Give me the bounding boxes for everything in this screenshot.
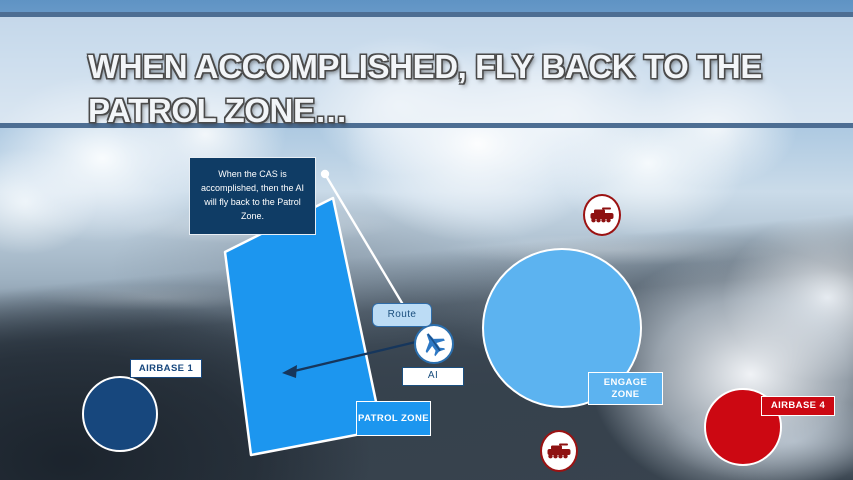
callout-box: When the CAS is accomplished, then the A… (189, 157, 316, 235)
patrol-zone-label[interactable]: PATROL ZONE (356, 401, 431, 436)
slide: WHEN ACCOMPLISHED, FLY BACK TO THE PATRO… (0, 0, 853, 480)
route-label[interactable]: Route (372, 303, 432, 327)
airbase-1-label[interactable]: AIRBASE 1 (130, 359, 202, 378)
armored-vehicle-icon (546, 443, 572, 459)
airbase-1-marker[interactable] (82, 376, 158, 452)
armored-vehicle-icon (589, 207, 615, 223)
callout-text: When the CAS is accomplished, then the A… (196, 168, 309, 224)
airbase-4-label[interactable]: AIRBASE 4 (761, 396, 835, 416)
threat-marker-north[interactable] (583, 194, 621, 236)
aircraft-label[interactable]: AI (402, 367, 464, 386)
fighter-jet-icon (419, 329, 449, 359)
aircraft-marker[interactable] (414, 324, 454, 364)
engage-zone-label[interactable]: ENGAGE ZONE (588, 372, 663, 405)
map-objects-layer: When the CAS is accomplished, then the A… (0, 0, 853, 480)
threat-marker-south[interactable] (540, 430, 578, 472)
